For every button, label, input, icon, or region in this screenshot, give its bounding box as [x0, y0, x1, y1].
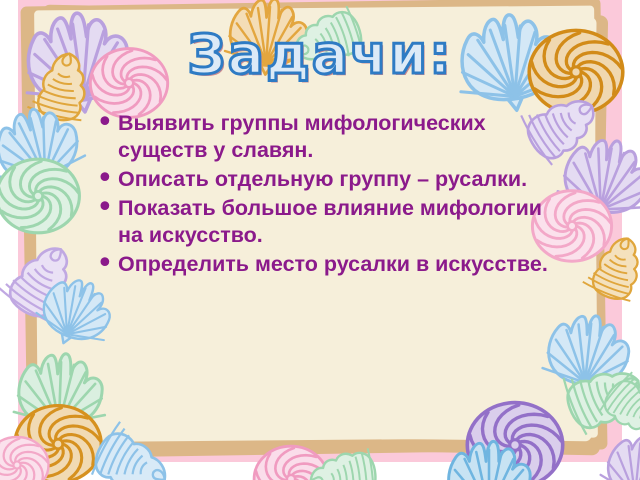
objectives-list: •Выявить группы мифологических существ у…	[96, 110, 548, 280]
list-item-label: Описать отдельную группу – русалки.	[118, 166, 548, 193]
list-item-label: Выявить группы мифологических существ у …	[118, 110, 548, 164]
slide: Задачи: •Выявить группы мифологических с…	[0, 0, 640, 480]
list-item-label: Определить место русалки в искусстве.	[118, 251, 548, 278]
list-item-label: Показать большое влияние мифологии на ис…	[118, 195, 548, 249]
page-title: Задачи:	[0, 28, 640, 82]
bullet-dot-icon: •	[96, 195, 118, 221]
bullet-dot-icon: •	[96, 110, 118, 136]
list-item: •Выявить группы мифологических существ у…	[96, 110, 548, 164]
list-item: •Описать отдельную группу – русалки.	[96, 166, 548, 193]
slide-content: Задачи: •Выявить группы мифологических с…	[0, 0, 640, 480]
bullet-dot-icon: •	[96, 251, 118, 277]
list-item: •Определить место русалки в искусстве.	[96, 251, 548, 278]
list-item: •Показать большое влияние мифологии на и…	[96, 195, 548, 249]
bullet-dot-icon: •	[96, 166, 118, 192]
